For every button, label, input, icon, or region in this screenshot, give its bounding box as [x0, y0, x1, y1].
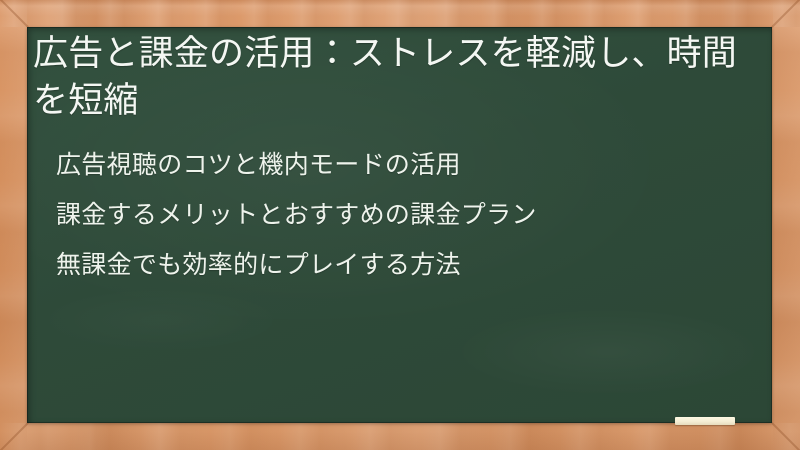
slide-title: 広告と課金の活用：ストレスを軽減し、時間を短縮 — [33, 31, 745, 125]
frame-bottom-ledge — [0, 423, 800, 450]
frame-right-stile — [773, 0, 800, 450]
frame-top-rail — [0, 0, 800, 27]
chalk-stick — [675, 417, 735, 425]
chalkboard-surface: 広告と課金の活用：ストレスを軽減し、時間を短縮 広告視聴のコツと機内モードの活用… — [27, 27, 772, 423]
chalkboard-slide: 広告と課金の活用：ストレスを軽減し、時間を短縮 広告視聴のコツと機内モードの活用… — [0, 0, 800, 450]
bullet-item: 無課金でも効率的にプレイする方法 — [56, 253, 752, 278]
bullet-list: 広告視聴のコツと機内モードの活用 課金するメリットとおすすめの課金プラン 無課金… — [56, 153, 752, 278]
bullet-item: 広告視聴のコツと機内モードの活用 — [56, 153, 752, 178]
frame-left-stile — [0, 0, 27, 450]
bullet-item: 課金するメリットとおすすめの課金プラン — [56, 203, 752, 228]
